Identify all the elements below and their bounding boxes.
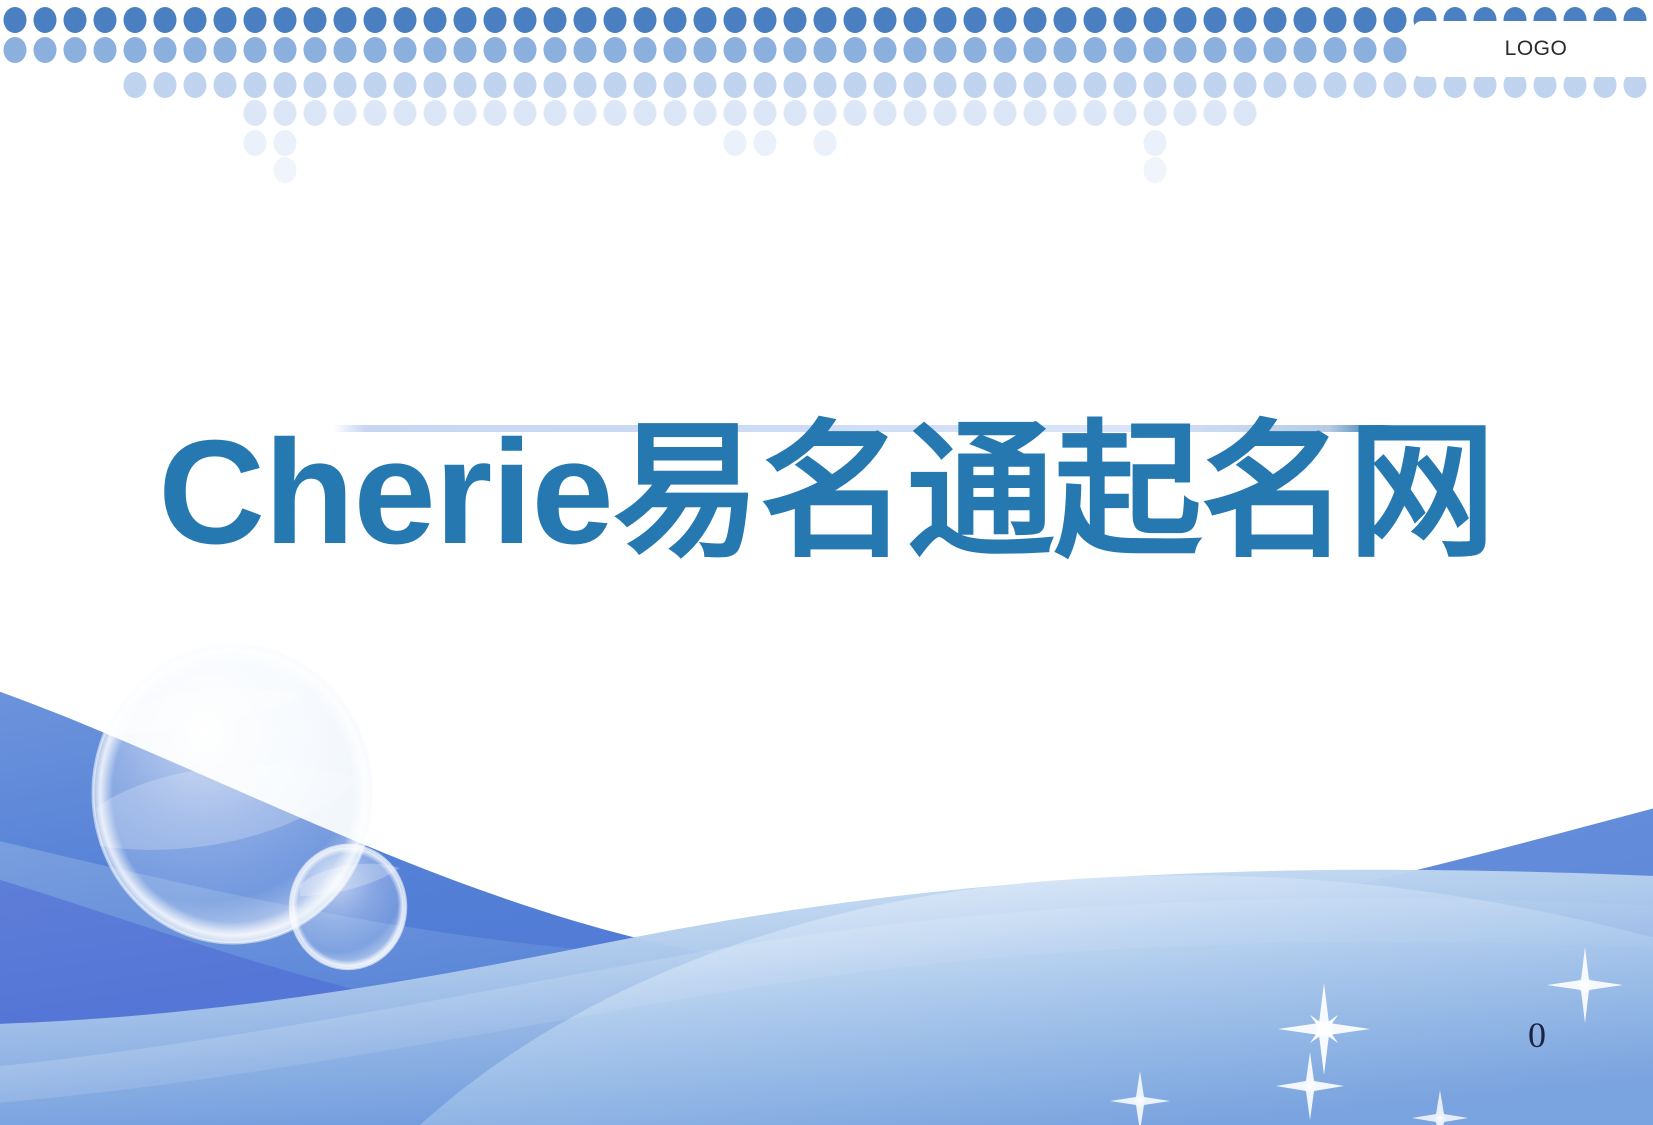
halftone-dot bbox=[934, 7, 957, 33]
halftone-dot bbox=[664, 37, 687, 63]
halftone-dot bbox=[394, 72, 417, 98]
halftone-dot bbox=[814, 72, 837, 98]
halftone-dot bbox=[1174, 7, 1197, 33]
halftone-dot bbox=[1204, 72, 1227, 98]
halftone-dot bbox=[424, 7, 447, 33]
halftone-dot bbox=[754, 130, 777, 156]
halftone-dot bbox=[424, 37, 447, 63]
halftone-dot bbox=[514, 37, 537, 63]
halftone-dot bbox=[34, 37, 57, 63]
halftone-dot bbox=[754, 72, 777, 98]
halftone-dot bbox=[1024, 72, 1047, 98]
halftone-dot bbox=[34, 7, 57, 33]
halftone-dot bbox=[364, 72, 387, 98]
halftone-dot bbox=[484, 7, 507, 33]
dot-row-1 bbox=[4, 7, 1647, 33]
dot-row-6 bbox=[274, 130, 1167, 183]
halftone-dot bbox=[1234, 72, 1257, 98]
halftone-dot bbox=[724, 72, 747, 98]
halftone-dot bbox=[1204, 100, 1227, 126]
halftone-dot bbox=[1354, 72, 1377, 98]
halftone-dot bbox=[1024, 7, 1047, 33]
halftone-dot bbox=[994, 7, 1017, 33]
halftone-dot bbox=[604, 72, 627, 98]
halftone-dot bbox=[1144, 37, 1167, 63]
halftone-dot bbox=[514, 7, 537, 33]
halftone-dot bbox=[814, 130, 837, 156]
halftone-dot bbox=[1324, 7, 1347, 33]
logo-placeholder[interactable]: LOGO bbox=[1413, 21, 1653, 77]
dot-row-4 bbox=[244, 100, 1257, 126]
halftone-dot bbox=[934, 37, 957, 63]
halftone-dot bbox=[484, 100, 507, 126]
halftone-dot bbox=[844, 37, 867, 63]
page-title: Cherie易名通起名网 bbox=[158, 415, 1495, 570]
halftone-dot bbox=[274, 72, 297, 98]
halftone-dot bbox=[1054, 100, 1077, 126]
halftone-dot bbox=[784, 100, 807, 126]
halftone-dot bbox=[1114, 72, 1137, 98]
halftone-dot bbox=[904, 72, 927, 98]
halftone-dot bbox=[124, 72, 147, 98]
halftone-dot bbox=[1294, 72, 1317, 98]
halftone-dot bbox=[64, 7, 87, 33]
halftone-dot bbox=[244, 100, 267, 126]
halftone-dot bbox=[1234, 7, 1257, 33]
halftone-dot bbox=[724, 130, 747, 156]
halftone-dot bbox=[634, 100, 657, 126]
halftone-dot bbox=[244, 130, 267, 156]
halftone-dot bbox=[1144, 7, 1167, 33]
halftone-dot bbox=[604, 37, 627, 63]
halftone-dot bbox=[1354, 7, 1377, 33]
title-underline-rule bbox=[333, 425, 1393, 432]
halftone-dot bbox=[604, 100, 627, 126]
halftone-dot bbox=[694, 100, 717, 126]
halftone-dot bbox=[634, 7, 657, 33]
halftone-dot bbox=[1234, 37, 1257, 63]
halftone-dot bbox=[1084, 37, 1107, 63]
halftone-dot bbox=[784, 37, 807, 63]
halftone-dot bbox=[304, 72, 327, 98]
halftone-dot bbox=[364, 37, 387, 63]
halftone-dot bbox=[124, 37, 147, 63]
halftone-dot bbox=[544, 72, 567, 98]
halftone-dot bbox=[1024, 100, 1047, 126]
halftone-dot bbox=[964, 72, 987, 98]
halftone-dot bbox=[664, 7, 687, 33]
halftone-dot bbox=[1144, 157, 1167, 183]
halftone-dot bbox=[844, 100, 867, 126]
halftone-dot bbox=[514, 72, 537, 98]
halftone-dot bbox=[634, 72, 657, 98]
halftone-dot bbox=[1324, 72, 1347, 98]
halftone-dot bbox=[1384, 37, 1407, 63]
halftone-dot bbox=[544, 37, 567, 63]
halftone-dot bbox=[214, 7, 237, 33]
halftone-dot bbox=[784, 72, 807, 98]
title-container: Cherie易名通起名网 bbox=[0, 415, 1653, 570]
halftone-dot bbox=[574, 37, 597, 63]
halftone-dot bbox=[694, 7, 717, 33]
halftone-dot bbox=[544, 100, 567, 126]
halftone-dot bbox=[1384, 72, 1407, 98]
halftone-dot bbox=[154, 72, 177, 98]
halftone-dot bbox=[334, 7, 357, 33]
halftone-dot bbox=[274, 100, 297, 126]
halftone-dot bbox=[1024, 37, 1047, 63]
halftone-dot bbox=[934, 72, 957, 98]
halftone-dot bbox=[1264, 72, 1287, 98]
halftone-dot bbox=[334, 72, 357, 98]
halftone-dot bbox=[424, 100, 447, 126]
halftone-dot bbox=[994, 100, 1017, 126]
halftone-dot bbox=[964, 7, 987, 33]
halftone-dot bbox=[574, 72, 597, 98]
halftone-dot bbox=[214, 37, 237, 63]
halftone-dot bbox=[364, 7, 387, 33]
halftone-dot bbox=[1384, 7, 1407, 33]
halftone-dot bbox=[1174, 72, 1197, 98]
halftone-dot-band bbox=[0, 0, 1653, 195]
halftone-dot bbox=[754, 7, 777, 33]
bottom-wave-graphic bbox=[0, 600, 1653, 1125]
halftone-dot bbox=[814, 7, 837, 33]
halftone-dot bbox=[964, 100, 987, 126]
halftone-dot bbox=[454, 7, 477, 33]
halftone-dot bbox=[964, 37, 987, 63]
halftone-dot bbox=[274, 7, 297, 33]
halftone-dot bbox=[454, 100, 477, 126]
halftone-dot bbox=[1144, 100, 1167, 126]
halftone-dot bbox=[694, 72, 717, 98]
dot-row-5 bbox=[244, 130, 837, 156]
halftone-dot bbox=[1054, 72, 1077, 98]
halftone-dot bbox=[1174, 37, 1197, 63]
halftone-dot bbox=[1264, 7, 1287, 33]
halftone-dot bbox=[244, 7, 267, 33]
halftone-dot bbox=[454, 72, 477, 98]
halftone-dot bbox=[1084, 100, 1107, 126]
halftone-dot bbox=[934, 100, 957, 126]
halftone-dot bbox=[154, 7, 177, 33]
halftone-dot bbox=[394, 100, 417, 126]
halftone-dot bbox=[1234, 100, 1257, 126]
halftone-dot bbox=[1264, 37, 1287, 63]
halftone-dot bbox=[4, 37, 27, 63]
halftone-dot bbox=[364, 100, 387, 126]
small-bubble bbox=[290, 845, 406, 969]
halftone-dot bbox=[514, 100, 537, 126]
halftone-dot bbox=[1114, 100, 1137, 126]
halftone-dot bbox=[1204, 7, 1227, 33]
halftone-dot bbox=[454, 37, 477, 63]
halftone-dot bbox=[724, 100, 747, 126]
halftone-dot bbox=[1354, 37, 1377, 63]
logo-label: LOGO bbox=[1505, 37, 1568, 61]
halftone-dot bbox=[214, 72, 237, 98]
halftone-dot bbox=[244, 37, 267, 63]
halftone-dot bbox=[844, 7, 867, 33]
halftone-dot bbox=[904, 37, 927, 63]
halftone-dot bbox=[604, 7, 627, 33]
halftone-dot bbox=[874, 100, 897, 126]
halftone-dot bbox=[874, 72, 897, 98]
halftone-dot bbox=[724, 37, 747, 63]
halftone-dot bbox=[874, 37, 897, 63]
halftone-dot bbox=[484, 37, 507, 63]
halftone-dot bbox=[274, 157, 297, 183]
halftone-dot bbox=[1294, 7, 1317, 33]
halftone-dot bbox=[1054, 7, 1077, 33]
halftone-dot bbox=[1144, 72, 1167, 98]
halftone-dot bbox=[694, 37, 717, 63]
halftone-dot bbox=[1144, 130, 1167, 156]
halftone-dot bbox=[574, 100, 597, 126]
halftone-dot bbox=[634, 37, 657, 63]
halftone-dot bbox=[394, 37, 417, 63]
halftone-dot bbox=[754, 37, 777, 63]
halftone-dot bbox=[94, 37, 117, 63]
halftone-dot bbox=[304, 100, 327, 126]
halftone-dot bbox=[64, 37, 87, 63]
halftone-dot bbox=[334, 100, 357, 126]
halftone-dot bbox=[154, 37, 177, 63]
halftone-dot bbox=[1174, 100, 1197, 126]
halftone-dot bbox=[814, 100, 837, 126]
halftone-dot bbox=[904, 7, 927, 33]
halftone-dot bbox=[754, 100, 777, 126]
halftone-dot bbox=[664, 100, 687, 126]
halftone-dot bbox=[1114, 7, 1137, 33]
halftone-dot bbox=[184, 72, 207, 98]
halftone-dot bbox=[334, 37, 357, 63]
halftone-dot bbox=[1294, 37, 1317, 63]
slide-canvas: LOGO Cherie易名通起名网 bbox=[0, 0, 1653, 1125]
halftone-dot bbox=[1084, 72, 1107, 98]
halftone-dot bbox=[274, 130, 297, 156]
halftone-dot bbox=[184, 37, 207, 63]
page-number: 0 bbox=[1528, 1014, 1546, 1056]
halftone-dot bbox=[244, 72, 267, 98]
halftone-dot bbox=[94, 7, 117, 33]
halftone-dot bbox=[484, 72, 507, 98]
halftone-dot bbox=[304, 7, 327, 33]
halftone-dot bbox=[994, 72, 1017, 98]
halftone-dot bbox=[664, 72, 687, 98]
halftone-dot bbox=[904, 100, 927, 126]
halftone-dot bbox=[394, 7, 417, 33]
halftone-dot bbox=[1114, 37, 1137, 63]
dot-row-2 bbox=[4, 37, 1647, 63]
halftone-dot bbox=[274, 37, 297, 63]
halftone-dot bbox=[1084, 7, 1107, 33]
halftone-dot bbox=[544, 7, 567, 33]
halftone-dot bbox=[1324, 37, 1347, 63]
halftone-dot bbox=[4, 7, 27, 33]
halftone-dot bbox=[724, 7, 747, 33]
halftone-dot bbox=[304, 37, 327, 63]
halftone-dot bbox=[844, 72, 867, 98]
halftone-dot bbox=[874, 7, 897, 33]
halftone-dot bbox=[184, 7, 207, 33]
halftone-dot bbox=[814, 37, 837, 63]
halftone-dot bbox=[784, 7, 807, 33]
halftone-dot bbox=[424, 72, 447, 98]
halftone-dot bbox=[1204, 37, 1227, 63]
halftone-dot bbox=[1054, 37, 1077, 63]
halftone-dot bbox=[124, 7, 147, 33]
halftone-dot bbox=[574, 7, 597, 33]
halftone-dot bbox=[994, 37, 1017, 63]
